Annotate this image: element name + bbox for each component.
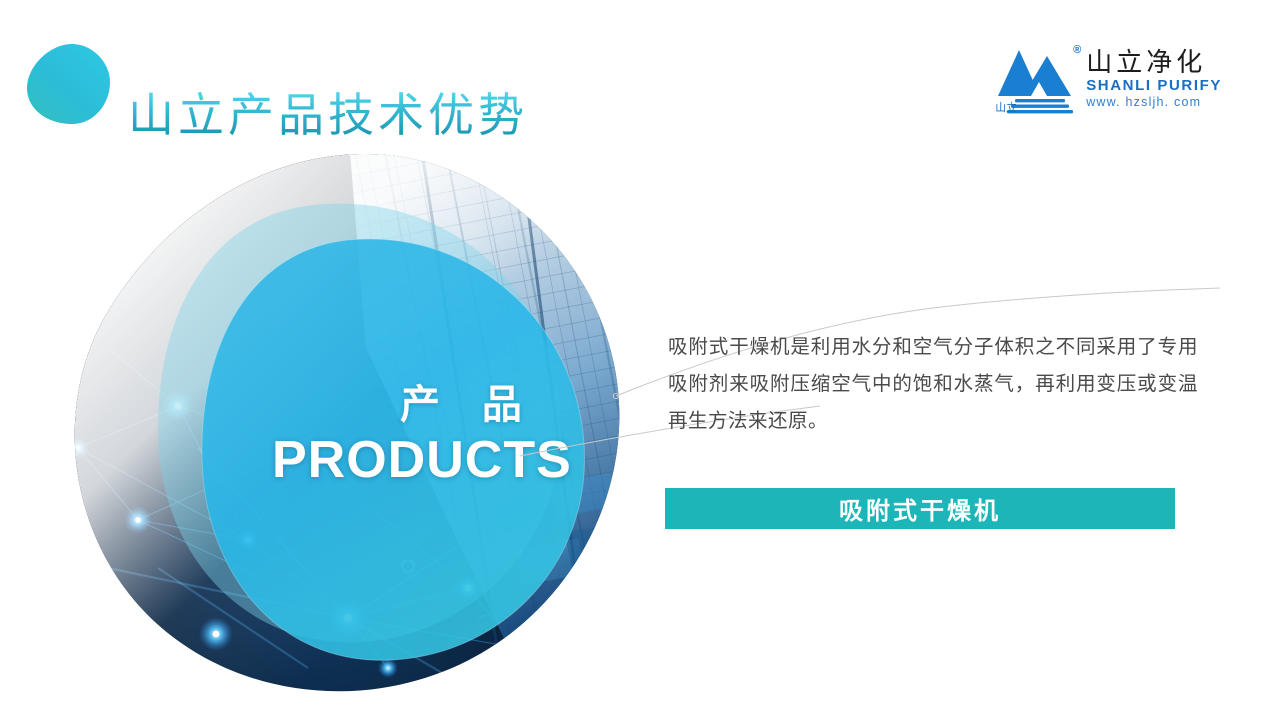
product-hero-graphic: 产 品 PRODUCTS — [48, 148, 648, 700]
page-title: 山立产品技术优势 — [128, 91, 528, 139]
product-description: 吸附式干燥机是利用水分和空气分子体积之不同采用了专用吸附剂来吸附压缩空气中的饱和… — [668, 328, 1198, 439]
slide-root: 山立产品技术优势 ® 山立 山立净化 S — [0, 0, 1280, 720]
mountain-peaks-icon: ® 山立 — [995, 42, 1077, 114]
logo-website: www. hzsljh. com — [1086, 95, 1222, 111]
logo-mark-caption: 山立 — [995, 99, 1017, 115]
logo-company-cn: 山立净化 — [1086, 50, 1222, 77]
logo-company-en: SHANLI PURIFY — [1086, 77, 1222, 94]
brand-logo: ® 山立 山立净化 SHANLI PURIFY www. hzsljh. com — [995, 42, 1222, 114]
header-blob-icon — [24, 42, 112, 126]
product-name-label: 吸附式干燥机 — [839, 491, 1001, 526]
product-name-banner[interactable]: 吸附式干燥机 — [665, 488, 1175, 529]
logo-text-block: 山立净化 SHANLI PURIFY www. hzsljh. com — [1086, 42, 1222, 110]
registered-trademark-icon: ® — [1073, 44, 1081, 56]
